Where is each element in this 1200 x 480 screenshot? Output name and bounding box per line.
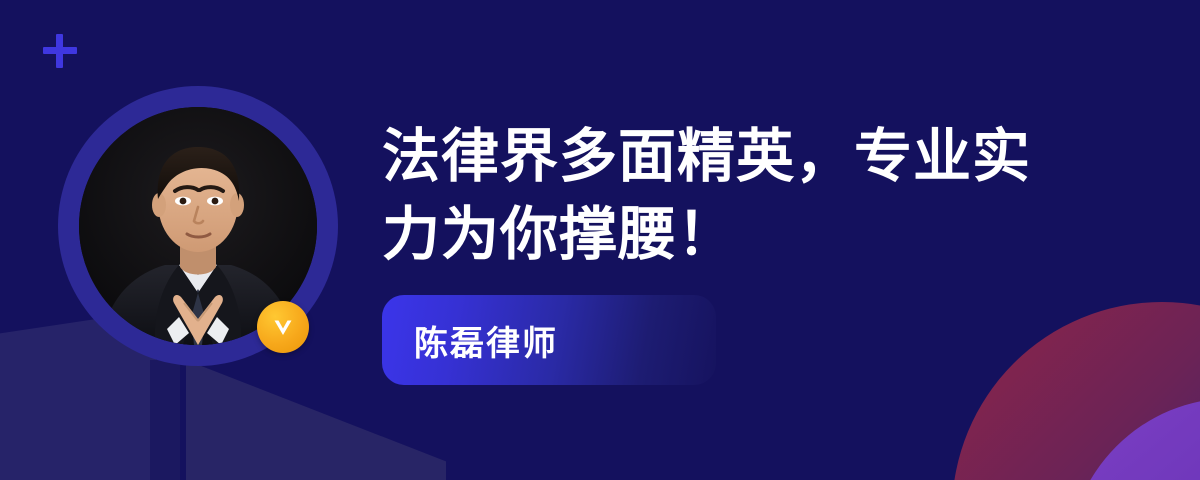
lawyer-name-label: 陈磊律师 bbox=[414, 316, 558, 365]
polygon-shape-divider bbox=[150, 360, 180, 480]
plus-icon bbox=[42, 33, 78, 69]
promo-banner: 法律界多面精英，专业实力为你撑腰！ 陈磊律师 bbox=[0, 0, 1200, 480]
avatar bbox=[58, 86, 338, 366]
verified-badge-icon bbox=[257, 301, 309, 353]
lawyer-name-pill[interactable]: 陈磊律师 bbox=[382, 295, 716, 385]
page-title: 法律界多面精英，专业实力为你撑腰！ bbox=[382, 118, 1082, 274]
